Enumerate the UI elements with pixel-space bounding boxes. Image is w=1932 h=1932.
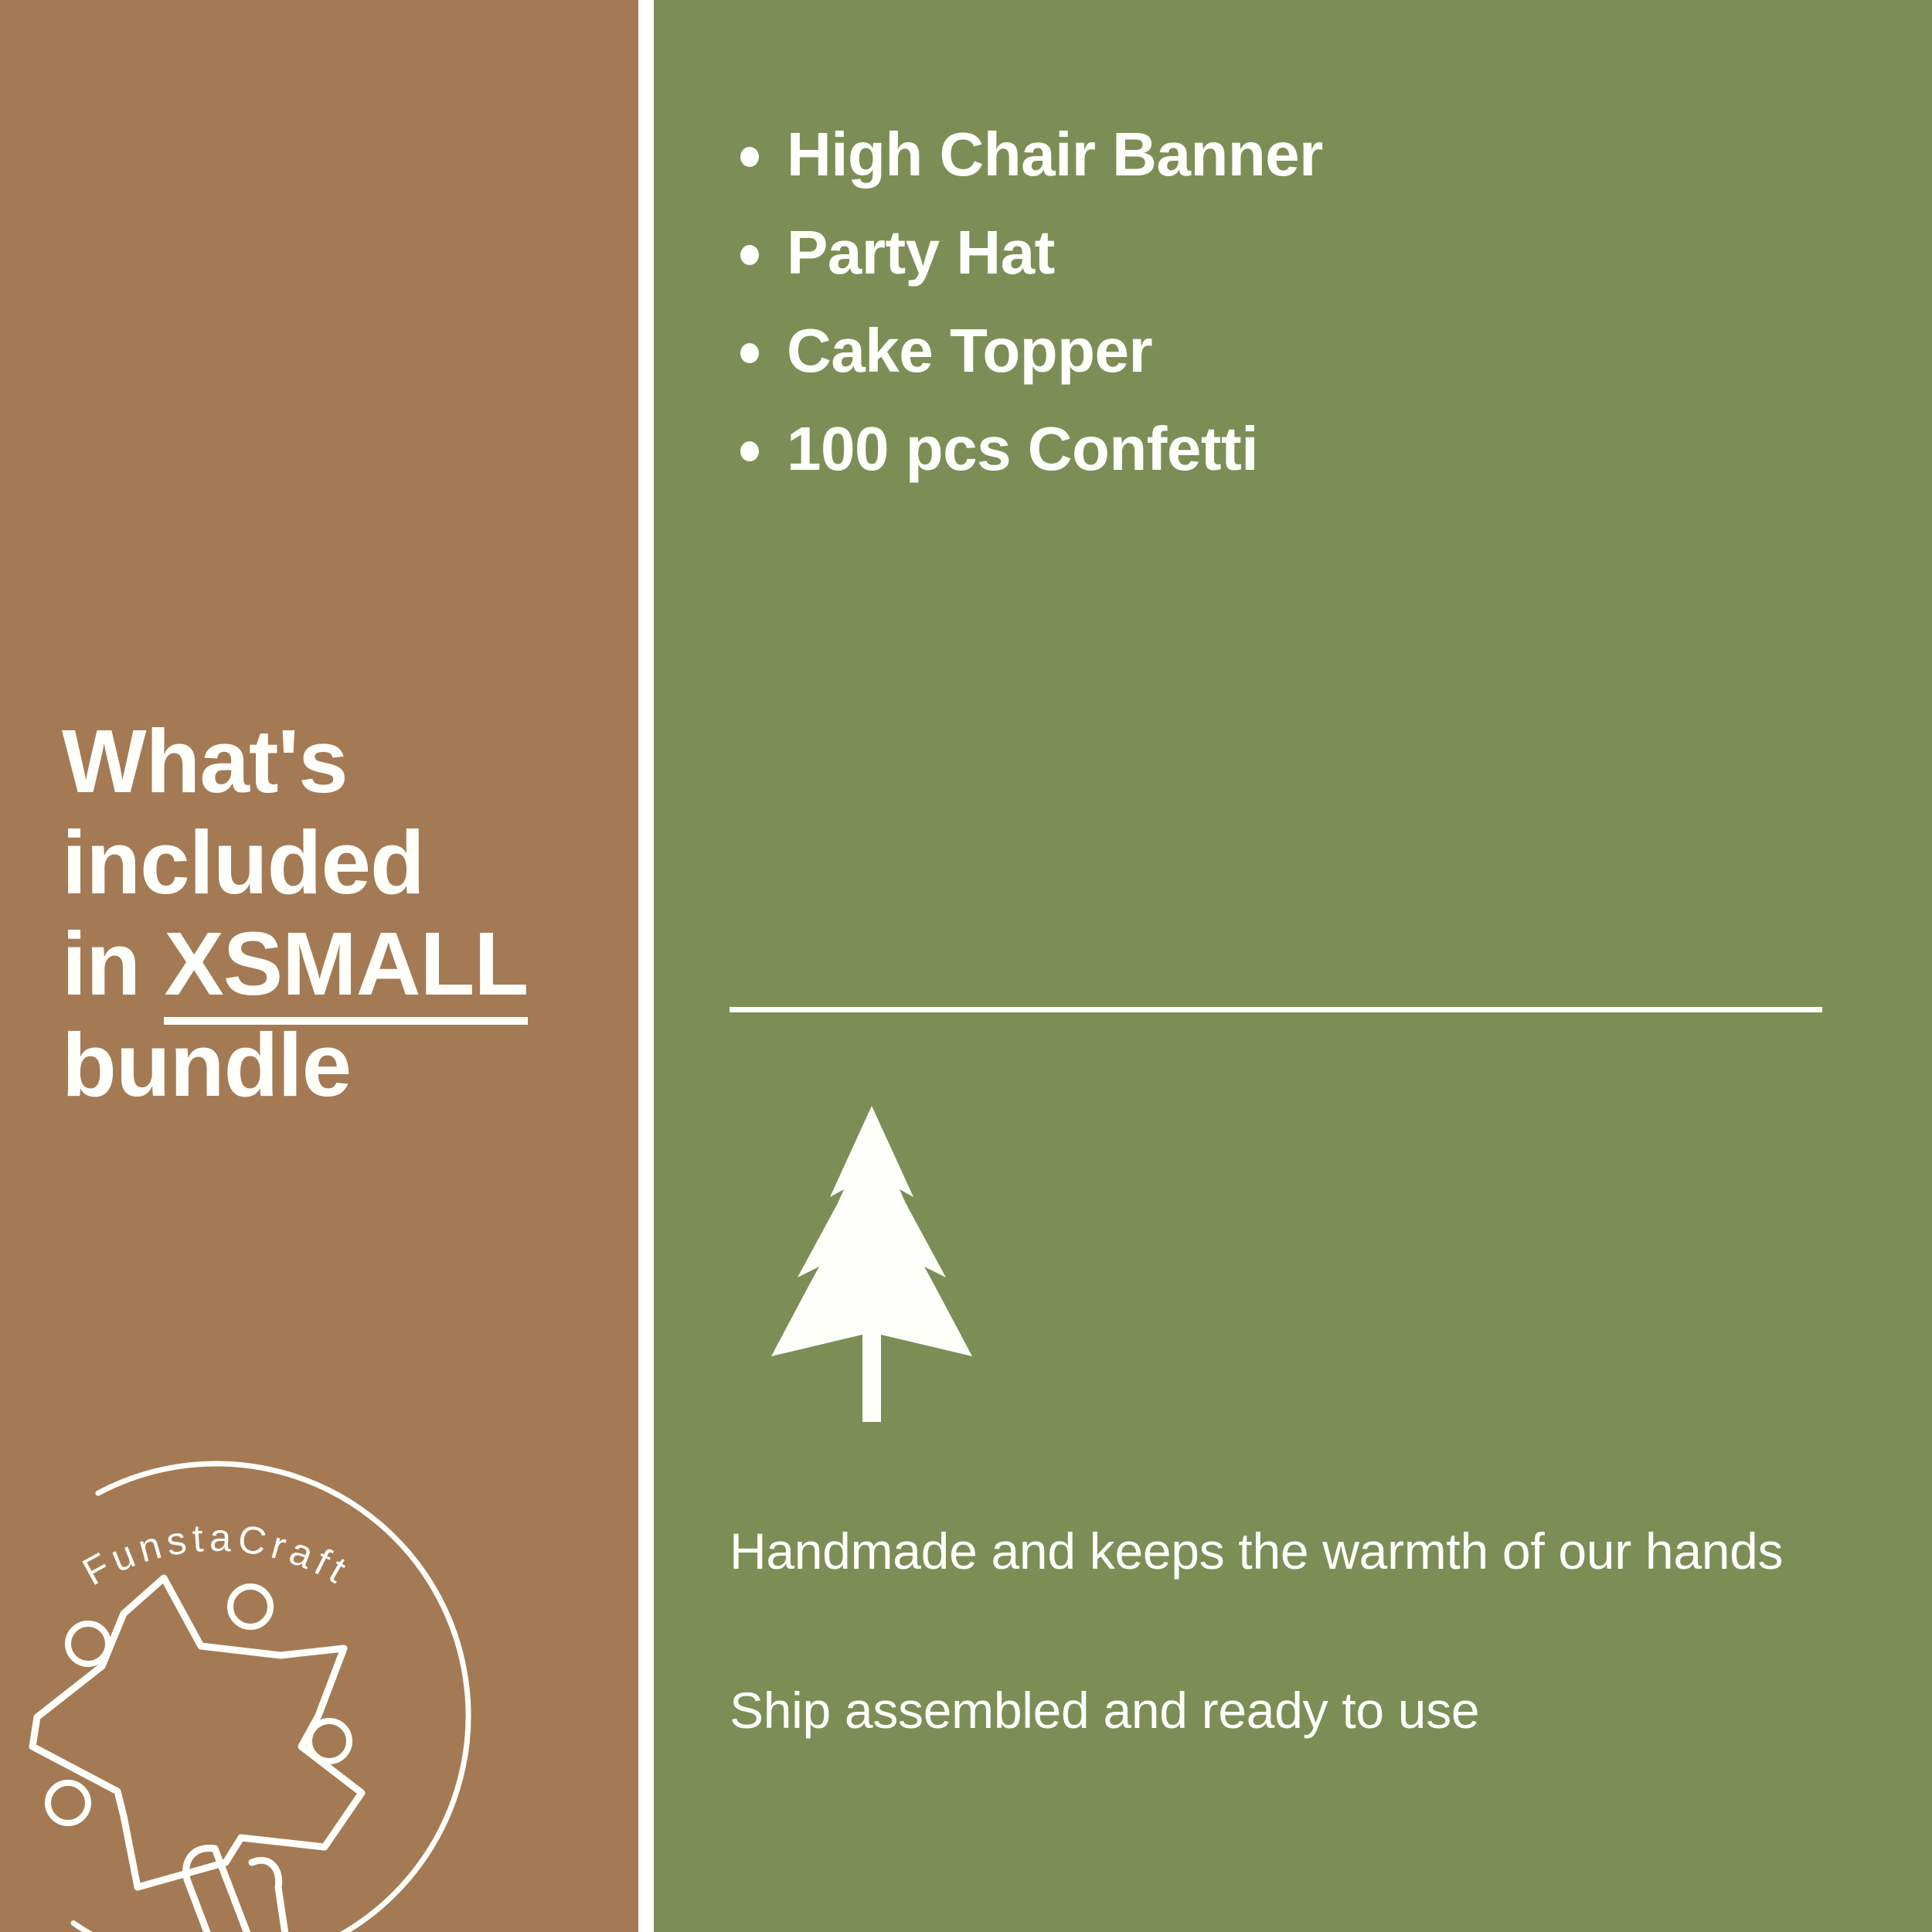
pine-tree-svg: [770, 1101, 974, 1422]
headline-emphasis-xsmall: XSMALL: [164, 913, 528, 1025]
headline-line-1: What's: [62, 711, 348, 811]
horizontal-rule: [730, 1007, 1822, 1012]
brand-logo-svg: FunstaCraft: [0, 1383, 510, 1932]
left-brown-panel: What's included in XSMALL bundle FunstaC…: [0, 0, 638, 1932]
sparkle-icon-4: [48, 1783, 88, 1823]
brand-name-curved: FunstaCraft: [76, 1515, 358, 1594]
note-shipping: Ship assembled and ready to use: [730, 1678, 1827, 1743]
panel-divider: [638, 0, 654, 1932]
sparkle-icon-2: [230, 1587, 270, 1627]
right-green-panel: High Chair Banner Party Hat Cake Topper …: [654, 0, 1932, 1932]
brand-logo: FunstaCraft: [0, 1383, 510, 1932]
sparkle-icon-1: [68, 1624, 108, 1664]
list-item: High Chair Banner: [731, 124, 1890, 185]
included-items-list: High Chair Banner Party Hat Cake Topper …: [731, 124, 1890, 516]
page-title: What's included in XSMALL bundle: [62, 711, 603, 1116]
headline-line-2: included: [62, 812, 424, 913]
headline-line-4: bundle: [62, 1015, 351, 1115]
list-item: 100 pcs Confetti: [731, 418, 1890, 480]
list-item: Cake Topper: [731, 320, 1890, 382]
headline-line-3-prefix: in: [62, 913, 164, 1014]
wand-handle-right: [252, 1860, 295, 1932]
note-handmade: Handmade and keeps the warmth of our han…: [730, 1519, 1827, 1583]
pine-tree-icon: [770, 1101, 974, 1422]
footnotes: Handmade and keeps the warmth of our han…: [730, 1519, 1827, 1743]
sparkle-icons: [48, 1587, 349, 1823]
list-item: Party Hat: [731, 222, 1890, 284]
product-info-card: What's included in XSMALL bundle FunstaC…: [0, 0, 1932, 1932]
sparkle-icon-3: [309, 1721, 349, 1761]
